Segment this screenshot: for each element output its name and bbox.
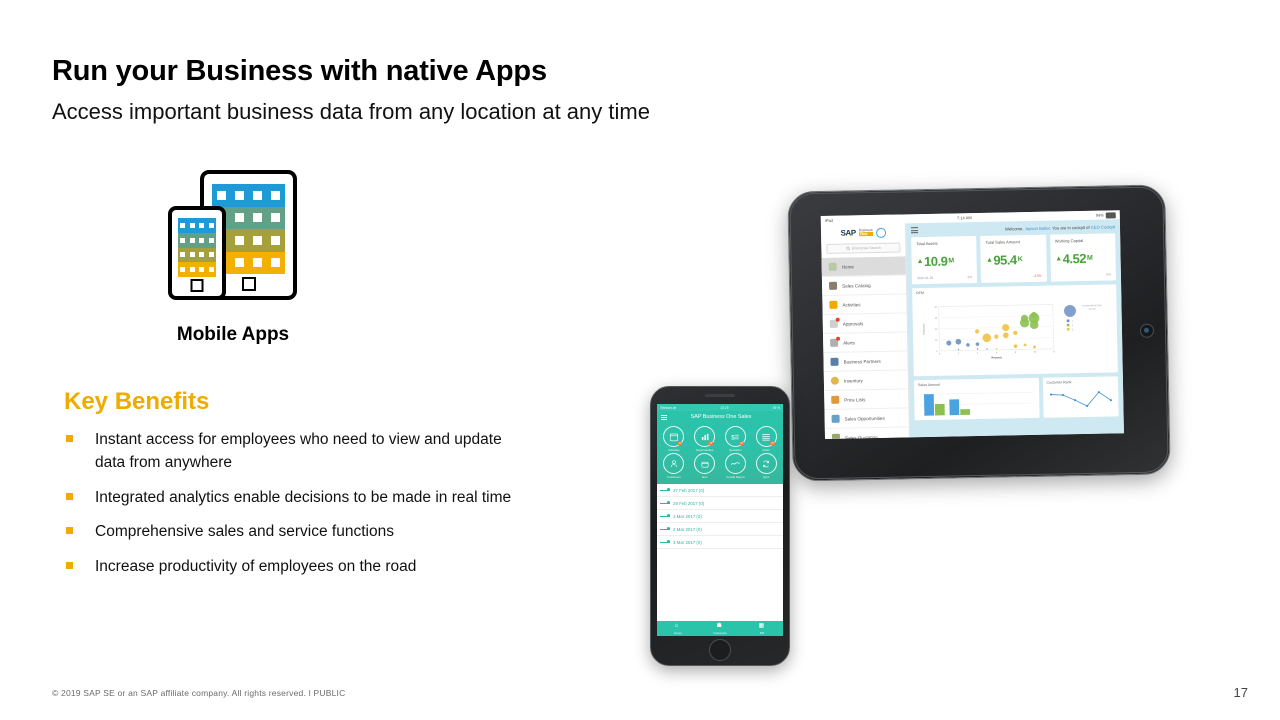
footer-copyright: © 2019 SAP SE or an SAP affiliate compan…	[52, 688, 345, 698]
welcome-prefix: Welcome,	[1005, 226, 1025, 231]
tile-badge: 79	[770, 442, 775, 445]
home-button-glyph-icon	[242, 277, 256, 291]
search-input[interactable]: Enterprise Search	[826, 242, 900, 253]
app-title: SAP Business One Sales	[671, 414, 771, 420]
bottom-nav-label: KPI	[760, 631, 765, 635]
icon-band	[178, 262, 216, 277]
benefit-text: Comprehensive sales and service function…	[95, 523, 394, 540]
arrow-icon	[660, 514, 670, 518]
sidebar-item-sales-catalog[interactable]: Sales Catalog	[822, 275, 906, 296]
kpi-footer: 5%	[1056, 272, 1111, 277]
welcome-message: Welcome, Jayson Butler. You are in cockp…	[923, 224, 1115, 233]
svg-text:Frequency: Frequency	[922, 323, 925, 335]
phone-tile-grid: 12 Activities 34 Opportunities $ 18	[657, 423, 783, 484]
benefit-item: Increase productivity of employees on th…	[64, 556, 524, 579]
tile-label: Sync	[763, 475, 769, 479]
arrow-icon	[660, 540, 670, 544]
search-icon	[846, 246, 850, 250]
sidebar-item-home[interactable]: Home	[822, 256, 906, 277]
kpi-value: 4.52	[1063, 250, 1087, 265]
phone-bottom-nav: ⌂ Home ☗ Customers ▦ KPI	[657, 621, 783, 636]
sales-amount-bar-chart	[918, 386, 1035, 418]
kpi-value-row: ▲ 95.4 K	[986, 244, 1042, 275]
sap-business-one-logo: SAP Business One	[821, 223, 905, 242]
key-benefits-list: Instant access for employees who need to…	[64, 429, 524, 591]
sidebar-item-label: Inventory	[844, 378, 863, 383]
search-placeholder: Enterprise Search	[852, 246, 881, 251]
tile-quotation[interactable]: $ 18 Quotation	[721, 426, 751, 452]
tile-sync[interactable]: Sync	[751, 453, 781, 479]
notification-badge	[836, 337, 840, 341]
svg-text:$: $	[732, 434, 736, 441]
kpi-unit: M	[1087, 254, 1092, 261]
kpi-delta: 5%	[1106, 272, 1111, 276]
benefit-text: Integrated analytics enable decisions to…	[95, 489, 511, 506]
person-icon: ☗	[717, 623, 724, 630]
tile-label: Activities	[668, 448, 679, 452]
svg-text:30: 30	[935, 318, 938, 320]
sidebar-item-price-lists[interactable]: Price Lists	[824, 389, 908, 410]
kpi-delta: 5%	[968, 275, 973, 279]
rfm-scatter-chart: 010203040024681012FrequencyRecencyCOUNTA…	[916, 292, 1113, 374]
bottom-nav-label: Customers	[713, 631, 727, 635]
benefit-text: Instant access for employees who need to…	[95, 431, 502, 471]
tile-label: Crystal Report	[726, 475, 744, 479]
tile-label: Order	[762, 448, 769, 452]
customer-rank-line-chart	[1047, 384, 1115, 415]
svg-text:2: 2	[1072, 325, 1074, 327]
svg-text:4: 4	[977, 353, 979, 355]
svg-text:3: 3	[1072, 329, 1074, 331]
svg-text:Recency: Recency	[991, 355, 1002, 359]
sales-amount-card[interactable]: Sales Amount	[914, 378, 1039, 420]
battery-icon	[1106, 212, 1116, 218]
rfm-chart-card[interactable]: RFM 010203040024681012FrequencyRecencyCO…	[912, 284, 1118, 376]
arrow-icon	[660, 488, 670, 492]
kpi-value-row: ▲ 4.52 M	[1055, 242, 1111, 273]
trend-up-icon: ▲	[986, 256, 993, 263]
battery-status: 94%	[1096, 212, 1116, 218]
kpi-unit: M	[948, 257, 953, 264]
svg-text:2: 2	[958, 353, 960, 355]
sidebar-item-approvals[interactable]: Approvals	[823, 313, 907, 334]
sidebar-item-sales-opportunities[interactable]: Sales Opportunities	[824, 408, 908, 429]
tile-item[interactable]: Item	[690, 453, 720, 479]
icon-band	[178, 218, 216, 233]
tile-label: Item	[702, 475, 708, 479]
bullet-square-icon	[66, 435, 73, 442]
phone-glyph-screen	[178, 218, 216, 277]
tablet-content: Welcome, Jayson Butler. You are in cockp…	[906, 219, 1124, 437]
icon-band	[212, 184, 285, 207]
phone-app-header: SAP Business One Sales	[657, 411, 783, 423]
icon-band	[178, 233, 216, 248]
welcome-cockpit[interactable]: CEO Cockpit	[1091, 224, 1115, 229]
svg-text:0: 0	[939, 353, 941, 355]
hamburger-menu-icon[interactable]	[911, 227, 918, 233]
trend-up-icon: ▲	[917, 258, 924, 265]
box-icon	[694, 453, 715, 474]
tablet-main: SAP Business One Enterprise Search Hom	[821, 219, 1124, 439]
list-item[interactable]: 27 Feb 2017 (0)	[657, 484, 783, 497]
phone-home-button[interactable]	[709, 639, 731, 661]
tile-badge: 12	[678, 442, 683, 445]
tile-opportunities[interactable]: 34 Opportunities	[690, 426, 720, 452]
list-item-label: 28 Feb 2017 (0)	[673, 501, 704, 506]
approvals-icon	[830, 320, 838, 328]
notification-badge	[836, 318, 840, 322]
bottom-nav-label: Home	[674, 631, 681, 635]
sidebar-item-label: Price Lists	[844, 397, 865, 402]
business-one-tag: Business One	[859, 229, 873, 237]
phone-date-list: 27 Feb 2017 (0) 28 Feb 2017 (0) 1 Mar 20…	[657, 484, 783, 549]
svg-text:COUNTA(MONETARY: COUNTA(MONETARY	[1082, 304, 1103, 307]
benefit-item: Comprehensive sales and service function…	[64, 521, 524, 544]
list-item-label: 3 Mar 2017 (0)	[673, 540, 702, 545]
clock-label: 22:29	[676, 406, 772, 410]
kpi-subtext: 2016-01-28	[917, 276, 933, 280]
phone-glyph-icon	[168, 206, 226, 300]
quote-icon: $ 18	[725, 426, 746, 447]
kpi-icon: ▦	[759, 623, 766, 630]
svg-text:1: 1	[1072, 321, 1074, 323]
kpi-tile-total-assets[interactable]: Total Assets ▲ 10.9 M 2016-01-28 5%	[911, 236, 977, 284]
svg-text:20: 20	[935, 329, 938, 331]
opportunity-icon	[832, 415, 840, 423]
tablet-screen: iPad 7:14 AM 94% SAP Business One	[821, 210, 1124, 439]
battery-label: 94%	[1096, 213, 1104, 218]
bullet-square-icon	[66, 562, 73, 569]
kpi-value-row: ▲ 10.9 M	[916, 245, 972, 276]
person-icon	[663, 453, 684, 474]
trend-icon	[725, 453, 746, 474]
customer-rank-card[interactable]: Customer Rank	[1042, 376, 1118, 417]
tile-customers[interactable]: Customers	[659, 453, 689, 479]
svg-text:12: 12	[1052, 351, 1055, 353]
bottom-nav-kpi[interactable]: ▦ KPI	[741, 621, 783, 636]
bullet-square-icon	[66, 527, 73, 534]
sidebar-item-label: Approvals	[843, 321, 864, 326]
kpi-unit: K	[1018, 256, 1023, 263]
list-item-label: 1 Mar 2017 (0)	[673, 514, 702, 519]
arrow-icon	[660, 527, 670, 531]
benefit-text: Increase productivity of employees on th…	[95, 558, 416, 575]
carrier-label: Telekom.de	[660, 406, 676, 410]
sidebar-item-inventory[interactable]: Inventory	[824, 370, 908, 391]
kpi-footer: 2016-01-28 5%	[917, 275, 972, 280]
svg-text:8: 8	[1015, 352, 1017, 354]
kpi-footer: -3.5%	[986, 274, 1041, 279]
svg-text:6: 6	[996, 352, 998, 354]
sidebar-item-label: Sales Opportunities	[845, 415, 885, 421]
sidebar-item-label: Business Partners	[843, 358, 880, 364]
bar-chart-icon: 34	[694, 426, 715, 447]
phone-screen: Telekom.de 22:29 49 % SAP Business One S…	[657, 404, 783, 636]
tile-badge: 34	[708, 442, 713, 445]
home-icon	[829, 263, 837, 271]
kpi-value: 95.4	[993, 252, 1017, 267]
mobile-apps-label: Mobile Apps	[168, 324, 298, 346]
svg-text:10: 10	[935, 340, 938, 342]
calendar-icon: 12	[663, 426, 684, 447]
icon-band	[178, 248, 216, 263]
page-number: 17	[1234, 685, 1248, 700]
arrow-icon	[660, 501, 670, 505]
sidebar-item-alerts[interactable]: Alerts	[823, 332, 907, 353]
inventory-icon	[831, 377, 839, 385]
tile-order[interactable]: 79 Order	[751, 426, 781, 452]
sidebar-item-activities[interactable]: Activities	[822, 294, 906, 315]
home-icon: ⌂	[675, 623, 682, 630]
page-title: Run your Business with native Apps	[52, 55, 547, 88]
sync-icon	[756, 453, 777, 474]
catalog-icon	[829, 282, 837, 290]
benefit-item: Integrated analytics enable decisions to…	[64, 487, 524, 510]
quotation-icon	[832, 434, 840, 439]
tablet-sidebar: SAP Business One Enterprise Search Hom	[821, 223, 910, 439]
list-item-label: 2 Mar 2017 (0)	[673, 527, 702, 532]
hamburger-menu-icon[interactable]	[661, 415, 667, 420]
key-benefits-heading: Key Benefits	[64, 388, 209, 416]
calendar-icon	[829, 301, 837, 309]
battery-label: 49 %	[773, 406, 780, 410]
phone-status-bar: Telekom.de 22:29 49 %	[657, 404, 783, 411]
sidebar-item-business-partners[interactable]: Business Partners	[823, 351, 907, 372]
tile-activities[interactable]: 12 Activities	[659, 426, 689, 452]
price-icon	[831, 396, 839, 404]
kpi-value: 10.9	[924, 253, 948, 268]
page-subtitle: Access important business data from any …	[52, 99, 650, 125]
sidebar-item-label: Sales Catalog	[842, 283, 871, 289]
phone-device-photo: Telekom.de 22:29 49 % SAP Business One S…	[650, 386, 790, 666]
tablet-device-photo: iPad 7:14 AM 94% SAP Business One	[787, 184, 1170, 481]
sap-wordmark: SAP	[840, 228, 855, 237]
phone-speaker	[705, 394, 735, 397]
b1-line2: One	[859, 232, 873, 236]
partners-icon	[830, 358, 838, 366]
list-item[interactable]: 28 Feb 2017 (0)	[657, 497, 783, 510]
kpi-tile-working-capital[interactable]: Working Capital ▲ 4.52 M 5%	[1050, 233, 1116, 281]
svg-text:VALUE): VALUE)	[1088, 308, 1096, 311]
kpi-delta: -3.5%	[1033, 274, 1041, 278]
list-item[interactable]: 3 Mar 2017 (0)	[657, 536, 783, 549]
benefit-item: Instant access for employees who need to…	[64, 429, 524, 475]
tile-label: Opportunities	[696, 448, 713, 452]
mobile-apps-icon	[168, 170, 298, 305]
sidebar-item-label: Activities	[842, 302, 860, 307]
bottom-nav-customers[interactable]: ☗ Customers	[699, 621, 741, 636]
list-item-label: 27 Feb 2017 (0)	[673, 488, 704, 493]
tile-badge: 18	[739, 442, 744, 445]
alert-icon	[830, 339, 838, 347]
kpi-tiles: Total Assets ▲ 10.9 M 2016-01-28 5%	[906, 233, 1121, 284]
gear-icon[interactable]	[875, 227, 885, 237]
trend-up-icon: ▲	[1055, 255, 1062, 262]
bottom-chart-row: Sales Amount Customer Rank	[909, 376, 1124, 420]
welcome-mid: . You are in cockpit of	[1050, 224, 1091, 230]
list-icon: 79	[756, 426, 777, 447]
tile-label: Quotation	[729, 448, 742, 452]
sidebar-item-label: Home	[842, 264, 854, 269]
bottom-nav-home[interactable]: ⌂ Home	[657, 621, 699, 636]
welcome-user[interactable]: Jayson Butler	[1025, 225, 1050, 230]
svg-text:10: 10	[1033, 351, 1036, 353]
bullet-square-icon	[66, 493, 73, 500]
carrier-label: iPad	[825, 218, 833, 223]
kpi-tile-total-sales-amount[interactable]: Total Sales Amount ▲ 95.4 K -3.5%	[980, 235, 1046, 283]
tile-crystal-report[interactable]: Crystal Report	[721, 453, 751, 479]
slide-root: Run your Business with native Apps Acces…	[0, 0, 1280, 720]
tile-label: Customers	[667, 475, 681, 479]
list-item[interactable]: 1 Mar 2017 (0)	[657, 510, 783, 523]
sidebar-item-sales-quotation[interactable]: Sales Quotation	[825, 427, 909, 439]
sidebar-item-label: Alerts	[843, 340, 855, 345]
home-button-glyph-icon	[191, 279, 204, 292]
list-item[interactable]: 2 Mar 2017 (0)	[657, 523, 783, 536]
svg-text:40: 40	[934, 307, 937, 309]
